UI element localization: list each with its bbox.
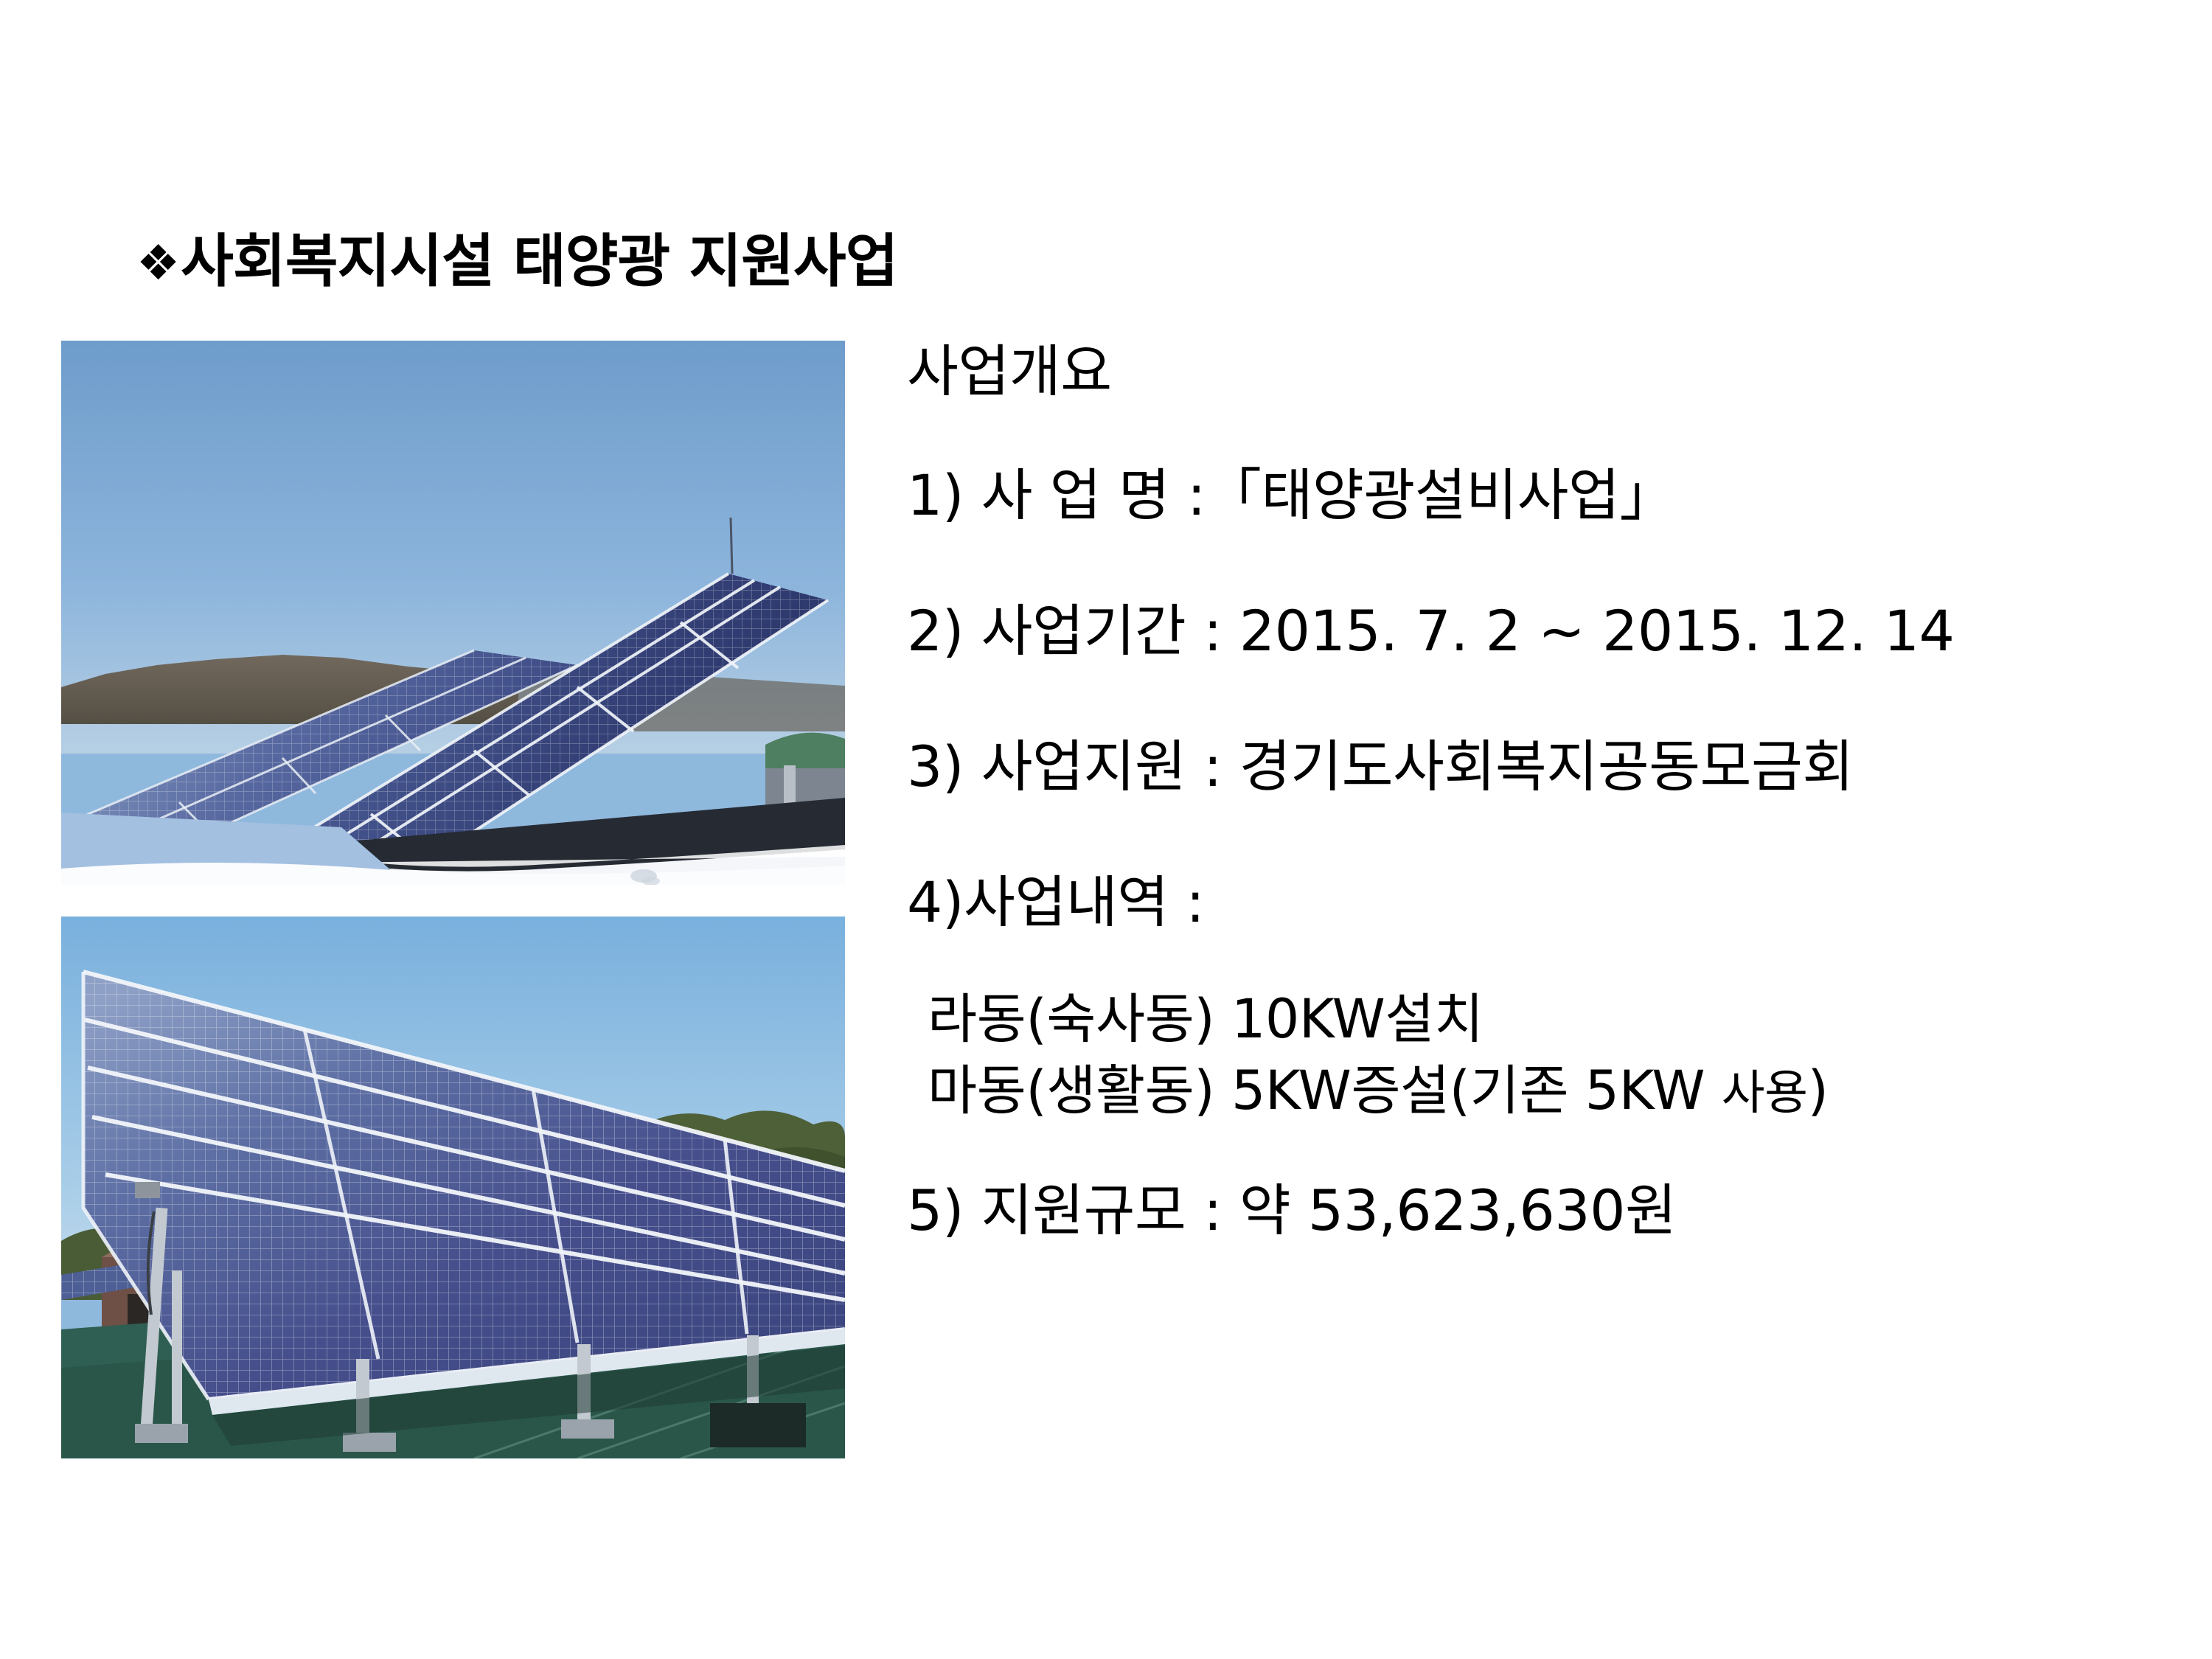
page-title-text: 사회복지시설 태양광 지원사업	[181, 229, 897, 295]
overview-item-project-period: 2) 사업기간 : 2015. 7. 2 ~ 2015. 12. 14	[907, 603, 2160, 659]
overview-item-project-funder: 3) 사업지원 : 경기도사회복지공동모금회	[907, 739, 2160, 795]
photo-solar-array-snowy-rooftop	[61, 341, 845, 885]
detail-line-building-ma-close: )	[1808, 1060, 1829, 1122]
overview-item-budget: 5) 지원규모 : 약 53,623,630원	[907, 1183, 2160, 1239]
photo-top-graphic	[61, 341, 845, 885]
diamond-bullet-icon: ❖	[136, 234, 179, 291]
overview-item-project-details: 4)사업내역 :	[907, 874, 2160, 931]
page-title: ❖사회복지시설 태양광 지원사업	[136, 233, 897, 291]
detail-line-building-ma-main: 마동(생활동) 5KW증설(기존 5KW	[928, 1060, 1722, 1122]
detail-line-building-ra: 라동(숙사동) 10KW설치	[928, 984, 2160, 1055]
project-overview-text-block: 사업개요 1) 사 업 명 :「태양광설비사업」 2) 사업기간 : 2015.…	[907, 344, 2160, 1239]
project-detail-list: 라동(숙사동) 10KW설치 마동(생활동) 5KW증설(기존 5KW 사용)	[928, 984, 2160, 1127]
overview-item-project-name: 1) 사 업 명 :「태양광설비사업」	[907, 467, 2160, 524]
photo-solar-array-green-rooftop	[61, 917, 845, 1458]
overview-heading: 사업개요	[907, 344, 2160, 400]
slide-canvas: ❖사회복지시설 태양광 지원사업	[0, 0, 2212, 1659]
detail-line-building-ma-note: 사용	[1722, 1066, 1808, 1121]
detail-line-building-ma: 마동(생활동) 5KW증설(기존 5KW 사용)	[928, 1055, 2160, 1127]
photo-bottom-graphic	[61, 917, 845, 1458]
